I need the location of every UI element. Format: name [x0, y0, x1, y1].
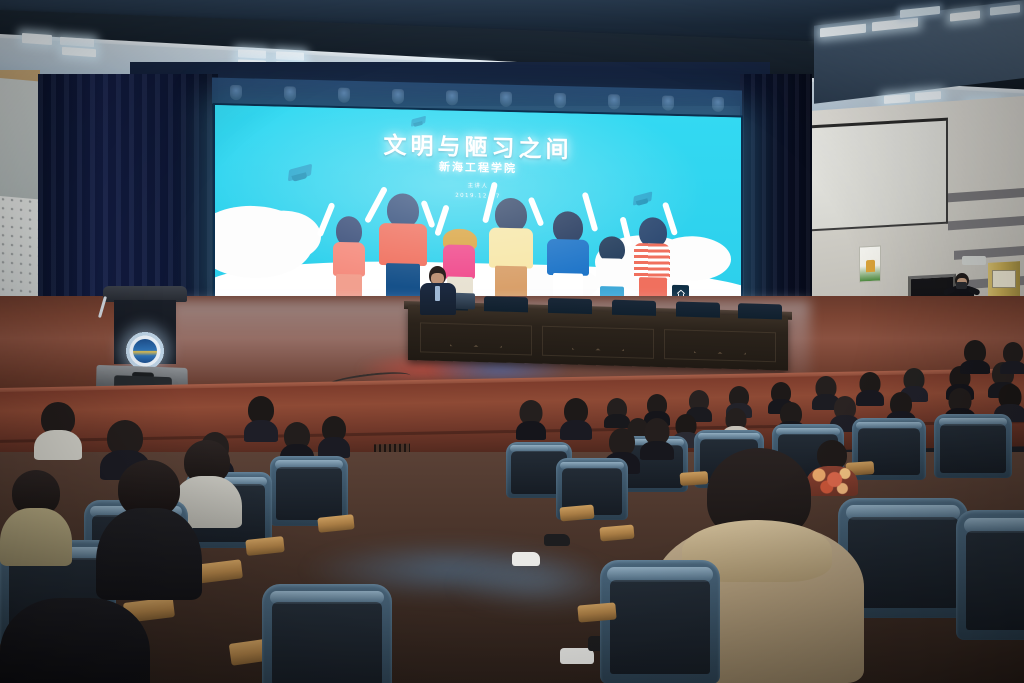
stage-lamp-icon — [392, 89, 404, 104]
attendee — [1000, 342, 1024, 374]
figure-body — [596, 258, 626, 289]
presenter-tie — [435, 286, 440, 301]
stage-lamp-icon — [284, 86, 296, 101]
figure-body — [379, 223, 427, 266]
auditorium-photo: 文明与陋习之间 新海工程学院 主讲人 2019.12.27 — [0, 0, 1024, 683]
stage-lamp-icon — [712, 97, 724, 112]
poster-graphic — [866, 260, 875, 273]
auditorium-seat[interactable] — [956, 510, 1024, 640]
shoe — [512, 552, 540, 566]
stage-lamp-icon — [662, 96, 674, 111]
ceiling-light-panel — [276, 51, 304, 60]
slide-figure-6 — [591, 202, 633, 309]
camera-icon — [956, 282, 967, 289]
figure-body — [333, 242, 365, 277]
figure-body — [489, 228, 533, 269]
attendee — [856, 372, 884, 406]
stage-lamp-icon — [338, 88, 350, 103]
lectern — [103, 286, 187, 364]
stage-lamp-icon — [608, 94, 620, 109]
panel-table — [408, 306, 788, 371]
figure-body — [634, 243, 670, 280]
table-panel — [664, 329, 776, 362]
column-plaque — [992, 270, 1016, 288]
attendee — [34, 402, 82, 460]
attendee — [244, 396, 278, 442]
seat-armrest — [599, 525, 634, 542]
table-panel — [542, 326, 654, 359]
led-presentation-screen: 文明与陋习之间 新海工程学院 主讲人 2019.12.27 — [213, 103, 743, 313]
attendee — [96, 460, 202, 600]
attendee — [0, 470, 72, 566]
attendee — [0, 598, 150, 683]
panel-chair — [612, 300, 656, 316]
panel-chair — [676, 301, 720, 317]
attendee-shoulders — [318, 437, 350, 458]
wall-poster — [859, 245, 881, 282]
attendee — [516, 400, 546, 440]
auditorium-seat[interactable] — [600, 560, 720, 683]
table-panel — [420, 322, 532, 355]
ceiling-light-panel — [22, 33, 52, 45]
figure-body — [547, 239, 589, 276]
lectern-body — [114, 300, 176, 364]
attendee-shoulders — [244, 420, 278, 442]
crest-core — [133, 339, 157, 363]
stage-lamp-icon — [554, 93, 566, 108]
presenter — [418, 266, 458, 314]
seat-armrest — [577, 602, 616, 622]
attendee — [960, 340, 990, 374]
auditorium-seat[interactable] — [934, 414, 1012, 478]
shoe — [544, 534, 570, 546]
attendee-shoulders — [516, 421, 546, 440]
wall-sign — [962, 256, 986, 265]
panel-chair — [738, 303, 782, 319]
slide-figure-7 — [629, 193, 677, 310]
attendee-shoulders — [34, 430, 82, 460]
stage-lamp-icon — [446, 90, 458, 105]
seat-armrest — [559, 505, 594, 522]
slide-canvas: 文明与陋习之间 新海工程学院 主讲人 2019.12.27 — [215, 105, 741, 311]
attendee-shoulders — [1000, 361, 1024, 374]
stage-lamp-icon — [500, 92, 512, 107]
attendee-shoulders — [856, 390, 884, 406]
attendee-shoulders — [0, 598, 150, 683]
slide-figure-1 — [327, 194, 371, 303]
side-projection-screen — [798, 118, 948, 232]
attendee-shoulders — [0, 508, 72, 566]
panel-chair — [548, 298, 592, 314]
attendee-shoulders — [960, 360, 990, 374]
attendee-shoulders — [560, 420, 592, 440]
attendee — [318, 416, 350, 458]
ceiling-light-panel — [238, 49, 266, 58]
attendee — [560, 398, 592, 440]
auditorium-seat[interactable] — [262, 584, 392, 683]
slide-figure-5 — [543, 187, 595, 308]
panel-chair — [484, 296, 528, 312]
attendee-shoulders — [96, 508, 202, 600]
stage-lamp-icon — [230, 85, 242, 100]
